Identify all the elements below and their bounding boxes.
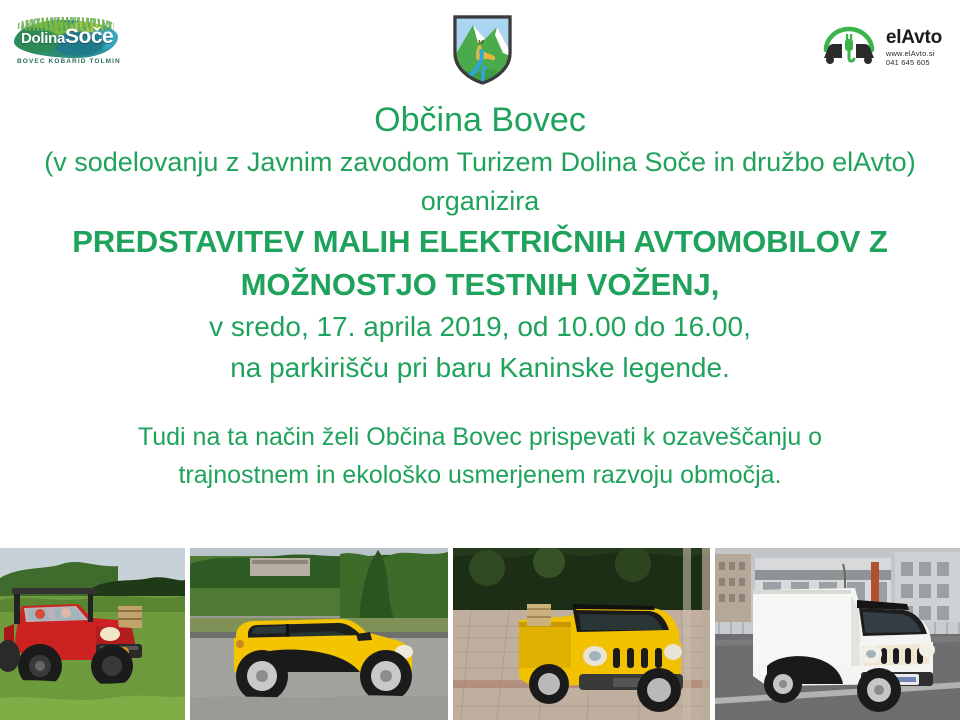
dolina-soce-wordmark: DolinaSoče bbox=[21, 28, 113, 47]
event-title-line-1: PREDSTAVITEV MALIH ELEKTRIČNIH AVTOMOBIL… bbox=[10, 220, 950, 263]
coat-of-arms-icon bbox=[451, 13, 514, 85]
photo-white-van bbox=[715, 548, 960, 720]
photo-red-utv bbox=[0, 548, 185, 720]
partners-line: (v sodelovanju z Javnim zavodom Turizem … bbox=[10, 142, 950, 182]
elavto-brand-name: elAvto bbox=[886, 28, 942, 47]
event-datetime: v sredo, 17. aprila 2019, od 10.00 do 16… bbox=[10, 306, 950, 347]
event-location: na parkirišču pri baru Kaninske legende. bbox=[10, 347, 950, 388]
organizes-line: organizira bbox=[10, 182, 950, 220]
footer-line-2: trajnostnem in ekološko usmerjenem razvo… bbox=[10, 456, 950, 494]
elavto-text-block: elAvto www.elAvto.si 041 645 605 bbox=[886, 26, 942, 67]
footer-paragraph: Tudi na ta način želi Občina Bovec prisp… bbox=[10, 418, 950, 494]
obcina-bovec-coat-of-arms bbox=[451, 13, 514, 85]
dolina-soce-word-big: Soče bbox=[65, 25, 113, 48]
photo-yellow-pickup-image bbox=[453, 548, 710, 720]
dolina-soce-logo: DolinaSoče BOVEC KOBARID TOLMIN bbox=[14, 20, 118, 70]
photo-yellow-pickup bbox=[453, 548, 710, 720]
event-title-line-2: MOŽNOSTJO TESTNIH VOŽENJ, bbox=[10, 263, 950, 306]
elavto-phone: 041 645 605 bbox=[886, 59, 942, 67]
organizer-name: Občina Bovec bbox=[10, 98, 950, 142]
photo-yellow-microcar bbox=[190, 548, 448, 720]
photo-strip bbox=[0, 548, 960, 720]
poster-text-block: Občina Bovec (v sodelovanju z Javnim zav… bbox=[0, 90, 960, 494]
dolina-soce-word-small: Dolina bbox=[21, 30, 65, 47]
dolina-soce-subtitle: BOVEC KOBARID TOLMIN bbox=[17, 58, 117, 65]
poster: DolinaSoče BOVEC KOBARID TOLMIN bbox=[0, 0, 960, 720]
footer-line-1: Tudi na ta način želi Občina Bovec prisp… bbox=[10, 418, 950, 456]
photo-yellow-microcar-image bbox=[190, 548, 448, 720]
elavto-car-plug-icon bbox=[819, 24, 879, 68]
photo-red-utv-image bbox=[0, 548, 185, 720]
elavto-website: www.elAvto.si bbox=[886, 50, 942, 58]
elavto-logo: elAvto www.elAvto.si 041 645 605 bbox=[819, 20, 942, 72]
photo-white-van-image bbox=[715, 548, 960, 720]
logo-row: DolinaSoče BOVEC KOBARID TOLMIN bbox=[0, 0, 960, 90]
